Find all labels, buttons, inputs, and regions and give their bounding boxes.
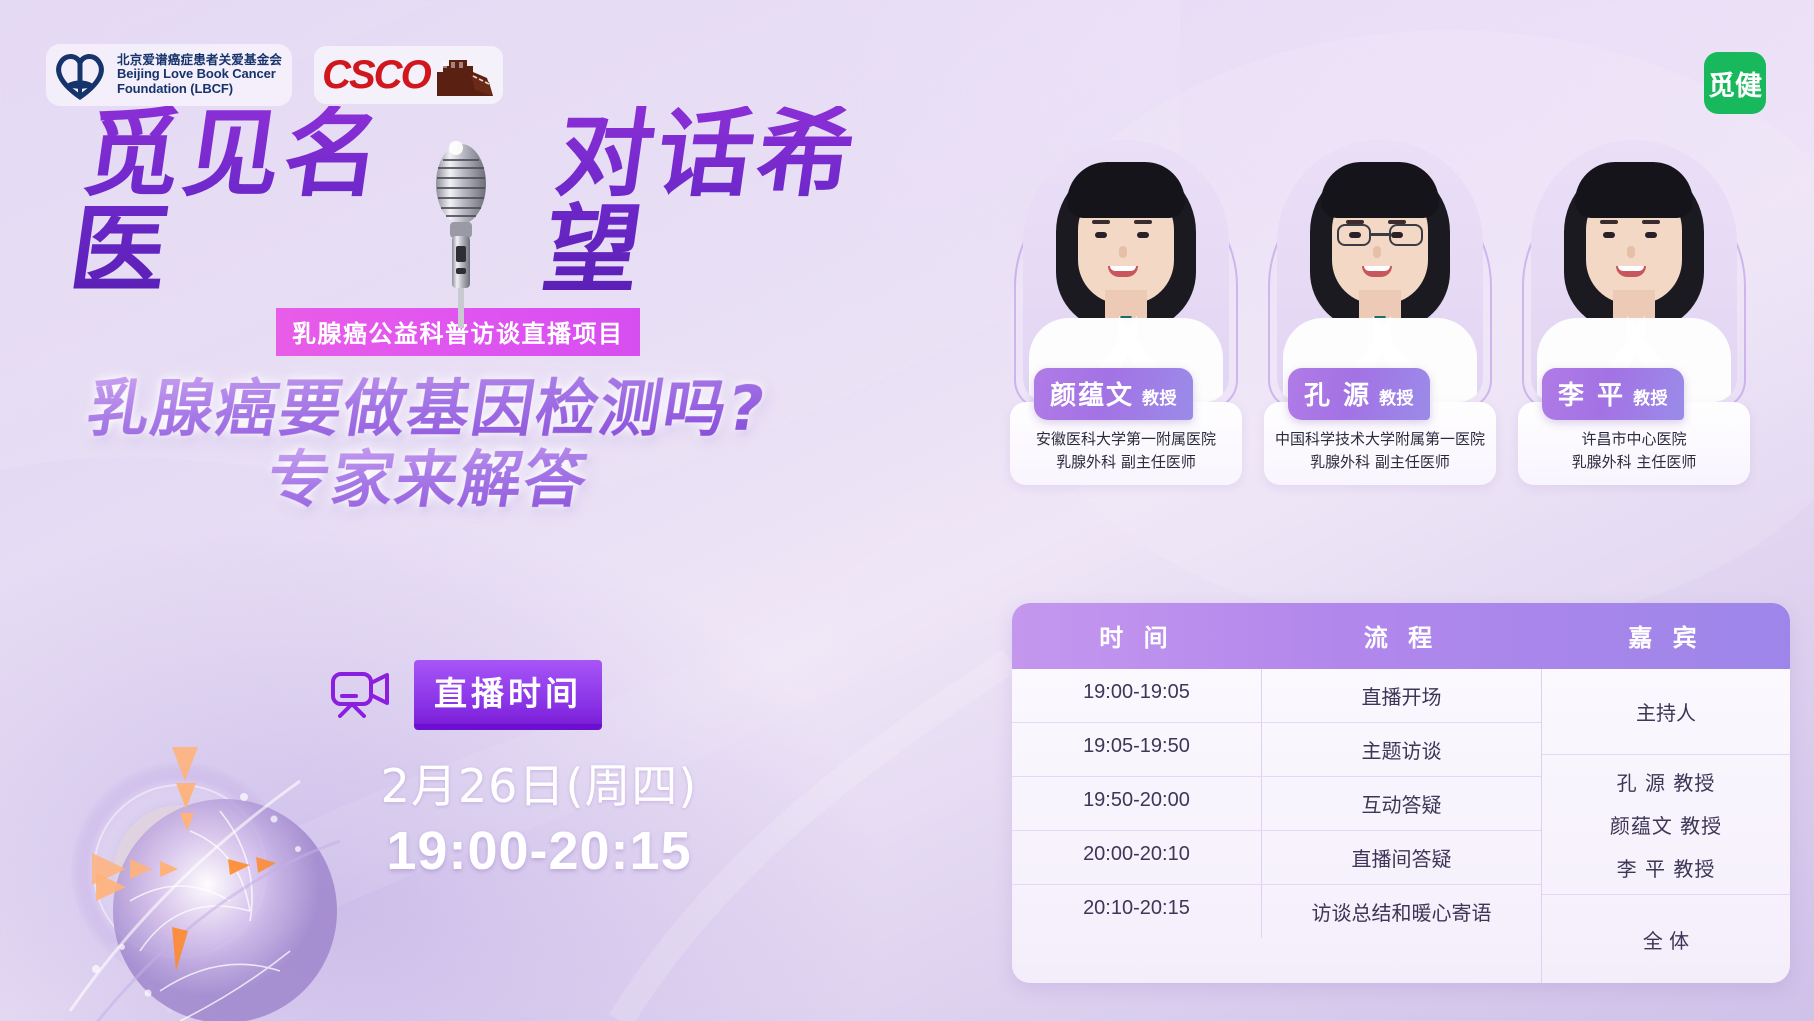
csco-logo: CSCO	[314, 46, 503, 104]
doctor-hospital: 中国科学技术大学附属第一医院	[1272, 428, 1488, 451]
doctor-name-badge: 孔 源 教授	[1288, 368, 1430, 420]
schedule-guest-column: 主持人 孔 源 教授 颜蕴文 教授 李 平 教授 全 体	[1541, 669, 1790, 983]
schedule-body: 19:00-19:05 直播开场 19:05-19:50 主题访谈 19:50-…	[1012, 669, 1790, 983]
question-line-2: 专家来解答	[263, 445, 944, 514]
header-logo-row: 北京爱谱癌症患者关爱基金会 Beijing Love Book Cancer F…	[46, 44, 503, 106]
live-hours: 19:00-20:15	[330, 820, 730, 882]
live-time-block: 直播时间 2月26日(周四) 19:00-20:15	[330, 660, 730, 882]
doctor-photo	[1531, 140, 1737, 402]
schedule-guest-name: 孔 源 教授	[1617, 767, 1716, 796]
headline-main-line: 觅见名医 对话希望	[78, 178, 938, 298]
doctor-title: 教授	[1142, 384, 1177, 409]
doctor-department: 乳腺外科 副主任医师	[1018, 451, 1234, 474]
doctor-photo	[1277, 140, 1483, 402]
lbcf-name-cn: 北京爱谱癌症患者关爱基金会	[117, 53, 282, 67]
doctor-card: 孔 源 教授 中国科学技术大学附属第一医院 乳腺外科 副主任医师	[1264, 140, 1496, 402]
doctor-name: 李 平	[1558, 375, 1625, 412]
doctor-title: 教授	[1633, 384, 1668, 409]
doctor-name-badge: 颜蕴文 教授	[1034, 368, 1193, 420]
lbcf-name-en-1: Beijing Love Book Cancer	[117, 67, 282, 82]
table-row: 20:00-20:10 直播间答疑	[1012, 830, 1541, 884]
table-row: 20:10-20:15 访谈总结和暖心寄语	[1012, 884, 1541, 938]
doctor-name-badge: 李 平 教授	[1542, 368, 1684, 420]
schedule-program: 访谈总结和暖心寄语	[1261, 885, 1541, 938]
question-line-1: 乳腺癌要做基因检测吗?	[83, 374, 944, 443]
live-date: 2月26日(周四)	[330, 750, 730, 816]
doctor-hospital: 安徽医科大学第一附属医院	[1018, 428, 1234, 451]
schedule-guest-host: 主持人	[1542, 669, 1790, 755]
doctor-card: 李 平 教授 许昌市中心医院 乳腺外科 主任医师	[1518, 140, 1750, 402]
schedule-time: 20:00-20:10	[1012, 831, 1261, 884]
live-time-header: 直播时间	[330, 660, 730, 730]
table-row: 19:50-20:00 互动答疑	[1012, 776, 1541, 830]
schedule-guest-name: 颜蕴文 教授	[1610, 810, 1722, 839]
mijian-logo[interactable]: 觅健	[1704, 52, 1766, 114]
doctor-name: 颜蕴文	[1050, 375, 1134, 412]
schedule-time: 19:50-20:00	[1012, 777, 1261, 830]
schedule-header-program: 流 程	[1261, 603, 1541, 669]
mijian-logo-text: 觅健	[1708, 64, 1762, 103]
schedule-guest-merged: 孔 源 教授 颜蕴文 教授 李 平 教授	[1542, 755, 1790, 895]
schedule-program: 互动答疑	[1261, 777, 1541, 830]
lbcf-name-en-2: Foundation (LBCF)	[117, 82, 282, 97]
schedule-program: 直播间答疑	[1261, 831, 1541, 884]
schedule-time: 19:05-19:50	[1012, 723, 1261, 776]
schedule-header-time: 时 间	[1012, 603, 1261, 669]
microphone-icon	[430, 138, 492, 328]
table-row: 19:00-19:05 直播开场	[1012, 669, 1541, 722]
doctor-card-list: 颜蕴文 教授 安徽医科大学第一附属医院 乳腺外科 副主任医师 孔 源 教授 中国…	[1010, 140, 1750, 402]
live-time-badge: 直播时间	[414, 660, 602, 730]
table-row: 19:05-19:50 主题访谈	[1012, 722, 1541, 776]
doctor-department: 乳腺外科 主任医师	[1526, 451, 1742, 474]
headline-block: 觅见名医 对话希望 乳腺癌公益科普访谈直播项目 乳腺癌要做基因检测吗	[78, 178, 938, 515]
doctor-department: 乳腺外科 副主任医师	[1272, 451, 1488, 474]
schedule-left-columns: 19:00-19:05 直播开场 19:05-19:50 主题访谈 19:50-…	[1012, 669, 1541, 983]
doctor-name: 孔 源	[1304, 375, 1371, 412]
doctor-card: 颜蕴文 教授 安徽医科大学第一附属医院 乳腺外科 副主任医师	[1010, 140, 1242, 402]
doctor-title: 教授	[1379, 384, 1414, 409]
headline-part-b: 对话希望	[538, 106, 952, 298]
great-wall-icon	[427, 50, 495, 100]
schedule-time: 20:10-20:15	[1012, 885, 1261, 938]
schedule-table: 时 间 流 程 嘉 宾 19:00-19:05 直播开场 19:05-19:50…	[1012, 603, 1790, 983]
doctor-hospital: 许昌市中心医院	[1526, 428, 1742, 451]
schedule-program: 主题访谈	[1261, 723, 1541, 776]
schedule-guest-name: 李 平 教授	[1617, 853, 1716, 882]
schedule-header-guest: 嘉 宾	[1541, 603, 1790, 669]
csco-wordmark: CSCO	[322, 55, 430, 95]
cancer-cell-illustration	[30, 701, 380, 1021]
doctor-photo	[1023, 140, 1229, 402]
schedule-header-row: 时 间 流 程 嘉 宾	[1012, 603, 1790, 669]
schedule-guest-all: 全 体	[1542, 895, 1790, 983]
headline-part-a: 觅见名医	[65, 106, 479, 298]
schedule-time: 19:00-19:05	[1012, 669, 1261, 722]
eyeglasses-icon	[1337, 224, 1423, 248]
lbcf-logo: 北京爱谱癌症患者关爱基金会 Beijing Love Book Cancer F…	[46, 44, 292, 106]
heart-ribbon-icon	[52, 49, 108, 101]
live-time-badge-text: 直播时间	[434, 674, 582, 713]
video-camera-icon	[330, 669, 394, 721]
schedule-program: 直播开场	[1261, 669, 1541, 722]
